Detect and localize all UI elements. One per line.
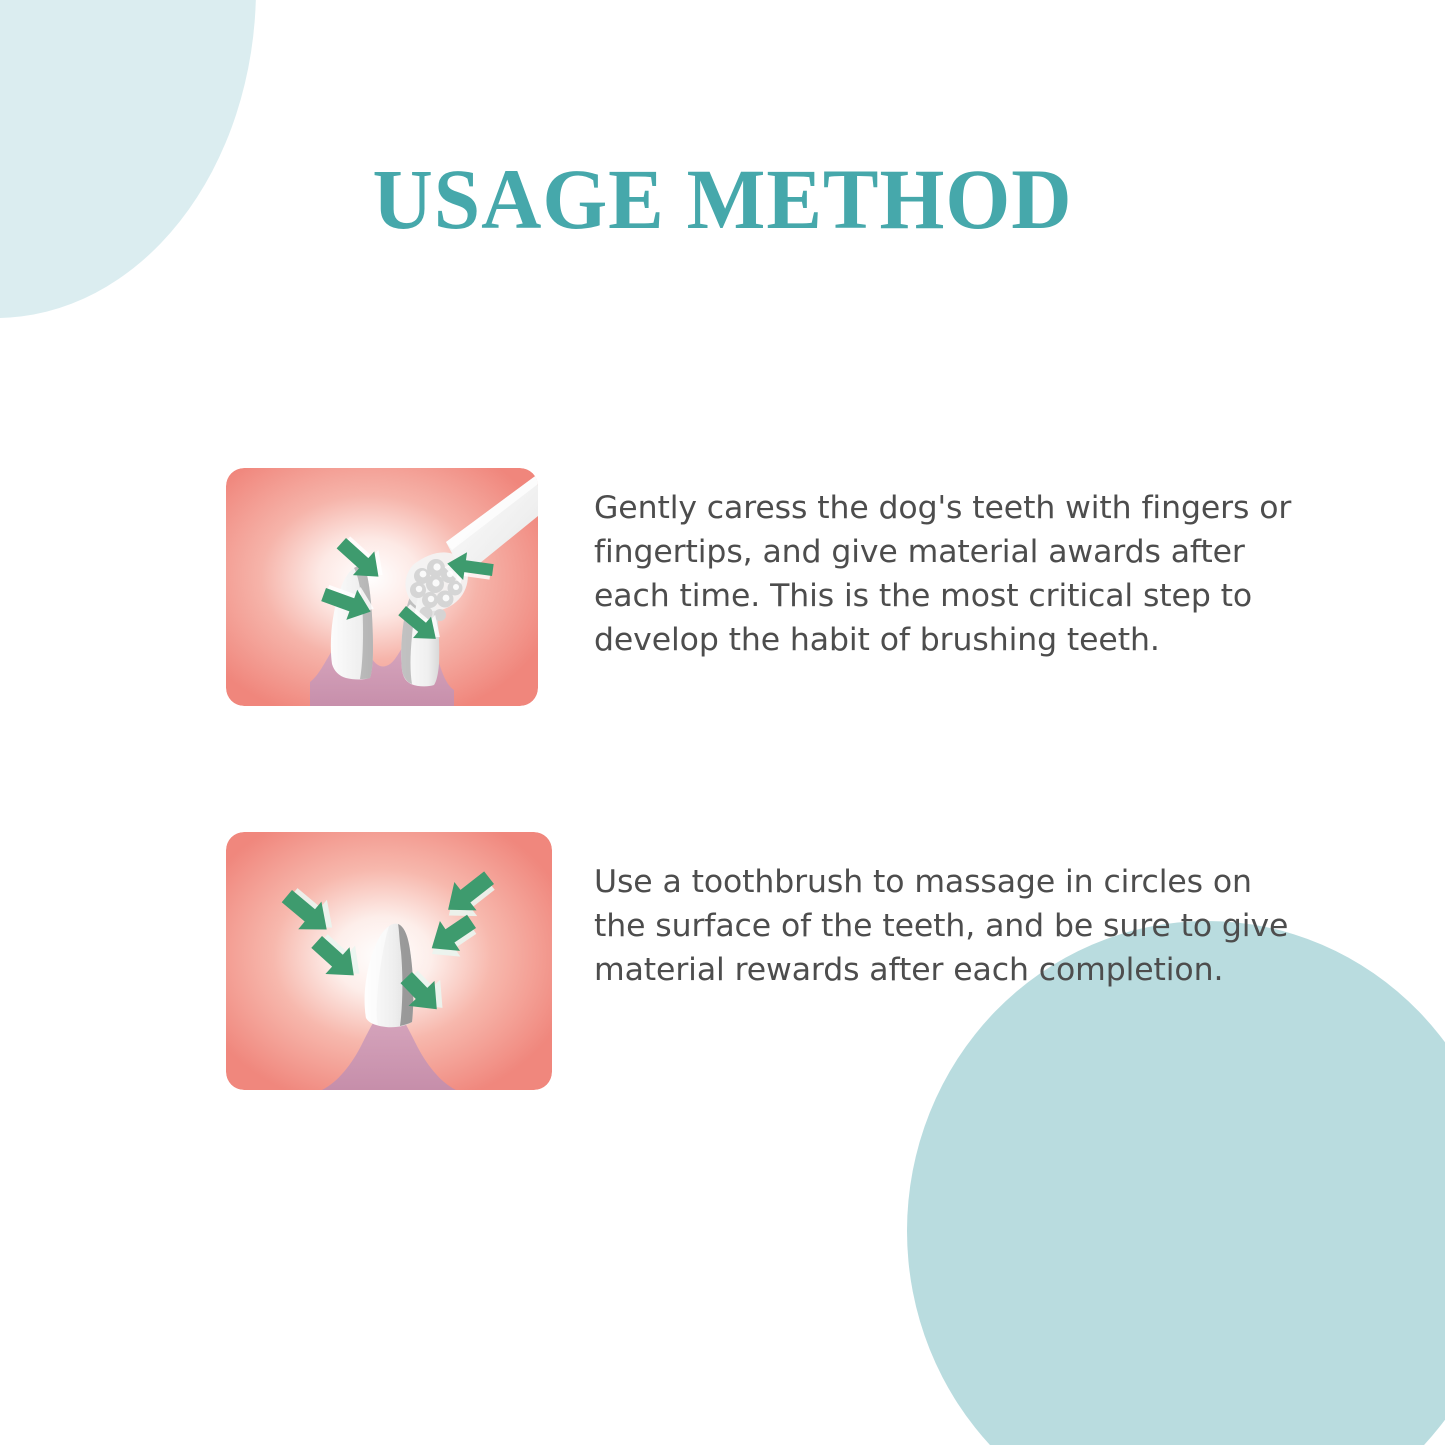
step-description: Gently caress the dog's teeth with finge…	[594, 486, 1309, 662]
page-title: USAGE METHOD	[22, 156, 1424, 242]
step-item: Use a toothbrush to massage in circles o…	[226, 832, 1299, 1090]
toothbrush-between-teeth-illustration	[226, 468, 538, 706]
usage-method-infographic: USAGE METHOD	[0, 0, 1445, 1445]
single-tooth-massage-illustration	[226, 832, 552, 1090]
step-description: Use a toothbrush to massage in circles o…	[594, 860, 1299, 992]
step-item: Gently caress the dog's teeth with finge…	[226, 468, 1309, 706]
